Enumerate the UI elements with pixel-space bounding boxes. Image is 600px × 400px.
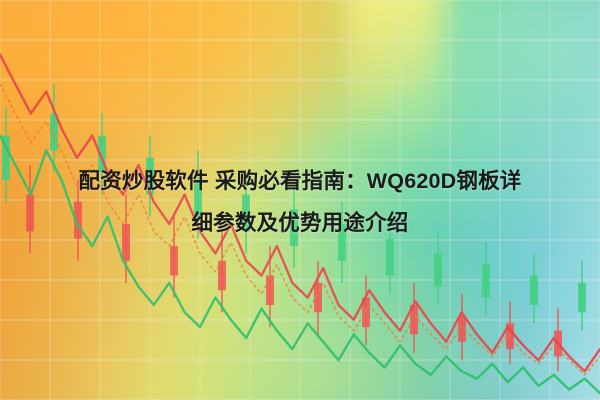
text-overlay: 配资炒股软件 采购必看指南：WQ620D钢板详 细参数及优势用途介绍 (0, 0, 600, 400)
page-title: 配资炒股软件 采购必看指南：WQ620D钢板详 细参数及优势用途介绍 (0, 160, 600, 244)
image-canvas: 配资炒股软件 采购必看指南：WQ620D钢板详 细参数及优势用途介绍 (0, 0, 600, 400)
